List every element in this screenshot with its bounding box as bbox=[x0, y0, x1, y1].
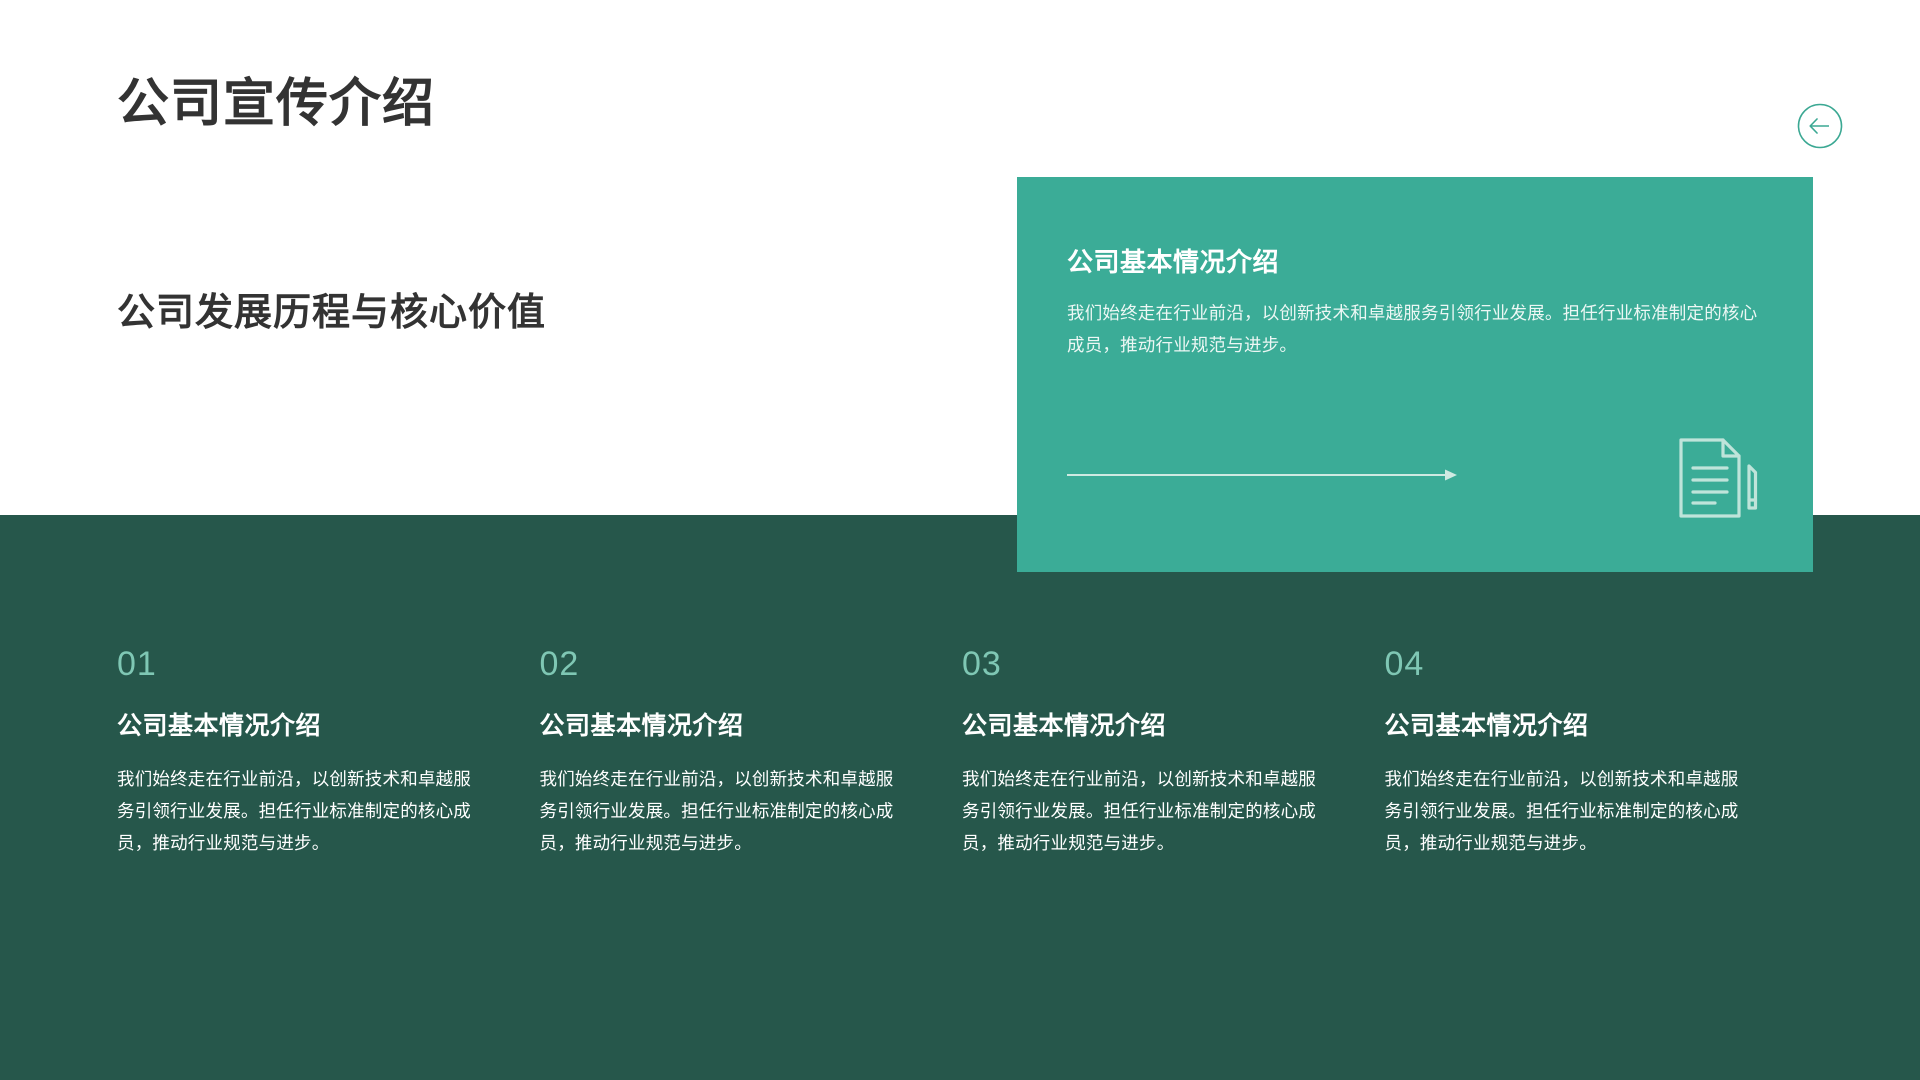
page-subtitle: 公司发展历程与核心价值 bbox=[117, 291, 546, 337]
column-body: 我们始终走在行业前沿，以创新技术和卓越服务引领行业发展。担任行业标准制定的核心成… bbox=[117, 763, 480, 859]
arrow-left-circle-icon bbox=[1797, 103, 1843, 149]
feature-card-title: 公司基本情况介绍 bbox=[1067, 242, 1279, 279]
column-title: 公司基本情况介绍 bbox=[117, 711, 480, 741]
page-title: 公司宣传介绍 bbox=[117, 76, 435, 133]
column-title: 公司基本情况介绍 bbox=[962, 711, 1325, 741]
feature-columns: 01 公司基本情况介绍 我们始终走在行业前沿，以创新技术和卓越服务引领行业发展。… bbox=[117, 647, 1807, 859]
list-item: 03 公司基本情况介绍 我们始终走在行业前沿，以创新技术和卓越服务引领行业发展。… bbox=[962, 647, 1385, 859]
dark-section: 01 公司基本情况介绍 我们始终走在行业前沿，以创新技术和卓越服务引领行业发展。… bbox=[0, 515, 1920, 1080]
feature-card-body: 我们始终走在行业前沿，以创新技术和卓越服务引领行业发展。担任行业标准制定的核心成… bbox=[1067, 297, 1767, 361]
column-body: 我们始终走在行业前沿，以创新技术和卓越服务引领行业发展。担任行业标准制定的核心成… bbox=[962, 763, 1325, 859]
column-number: 03 bbox=[962, 647, 1325, 681]
presentation-slide: 公司宣传介绍 公司发展历程与核心价值 01 公司基本情况介绍 我们始终走在行业前… bbox=[0, 0, 1920, 1080]
column-title: 公司基本情况介绍 bbox=[540, 711, 903, 741]
document-pencil-icon bbox=[1671, 432, 1763, 524]
column-number: 01 bbox=[117, 647, 480, 681]
list-item: 01 公司基本情况介绍 我们始终走在行业前沿，以创新技术和卓越服务引领行业发展。… bbox=[117, 647, 540, 859]
arrow-right-line-icon bbox=[1067, 467, 1457, 483]
column-body: 我们始终走在行业前沿，以创新技术和卓越服务引领行业发展。担任行业标准制定的核心成… bbox=[540, 763, 903, 859]
list-item: 02 公司基本情况介绍 我们始终走在行业前沿，以创新技术和卓越服务引领行业发展。… bbox=[540, 647, 963, 859]
list-item: 04 公司基本情况介绍 我们始终走在行业前沿，以创新技术和卓越服务引领行业发展。… bbox=[1385, 647, 1808, 859]
column-body: 我们始终走在行业前沿，以创新技术和卓越服务引领行业发展。担任行业标准制定的核心成… bbox=[1385, 763, 1748, 859]
back-button[interactable] bbox=[1797, 103, 1843, 149]
column-title: 公司基本情况介绍 bbox=[1385, 711, 1748, 741]
column-number: 04 bbox=[1385, 647, 1748, 681]
column-number: 02 bbox=[540, 647, 903, 681]
feature-card: 公司基本情况介绍 我们始终走在行业前沿，以创新技术和卓越服务引领行业发展。担任行… bbox=[1017, 177, 1813, 572]
